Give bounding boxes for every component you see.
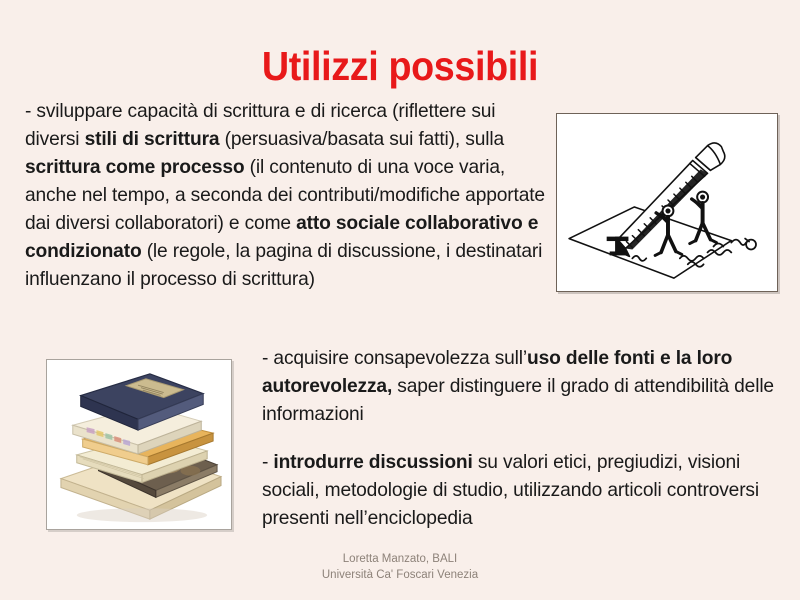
page-title: Utilizzi possibili — [32, 45, 768, 88]
bullet-paragraph-sources-awareness: - acquisire consapevolezza sull’uso dell… — [262, 345, 777, 429]
bullet-paragraph-discussions: - introdurre discussioni su valori etici… — [262, 449, 777, 533]
slide-footer: Loretta Manzato, BALI Università Ca' Fos… — [0, 551, 800, 583]
pencil-illustration-icon — [557, 114, 777, 291]
footer-author: Loretta Manzato, BALI — [0, 551, 800, 567]
text-run: - acquisire consapevolezza sull’ — [262, 348, 527, 369]
text-run: (persuasiva/basata sui fatti), sulla — [219, 129, 504, 150]
text-run: - — [262, 452, 273, 473]
books-photo-frame — [46, 359, 232, 530]
emphasis-run: introdurre discussioni — [273, 452, 472, 473]
footer-institution: Università Ca' Foscari Venezia — [0, 567, 800, 583]
emphasis-run: stili di scrittura — [85, 129, 220, 150]
stack-of-books-icon — [47, 360, 231, 529]
pencil-illustration-frame — [556, 113, 778, 292]
emphasis-run: scrittura come processo — [25, 157, 244, 178]
bullet-paragraph-writing-skills: - sviluppare capacità di scrittura e di … — [25, 98, 545, 294]
slide-canvas: Utilizzi possibili - sviluppare capacità… — [0, 0, 800, 600]
